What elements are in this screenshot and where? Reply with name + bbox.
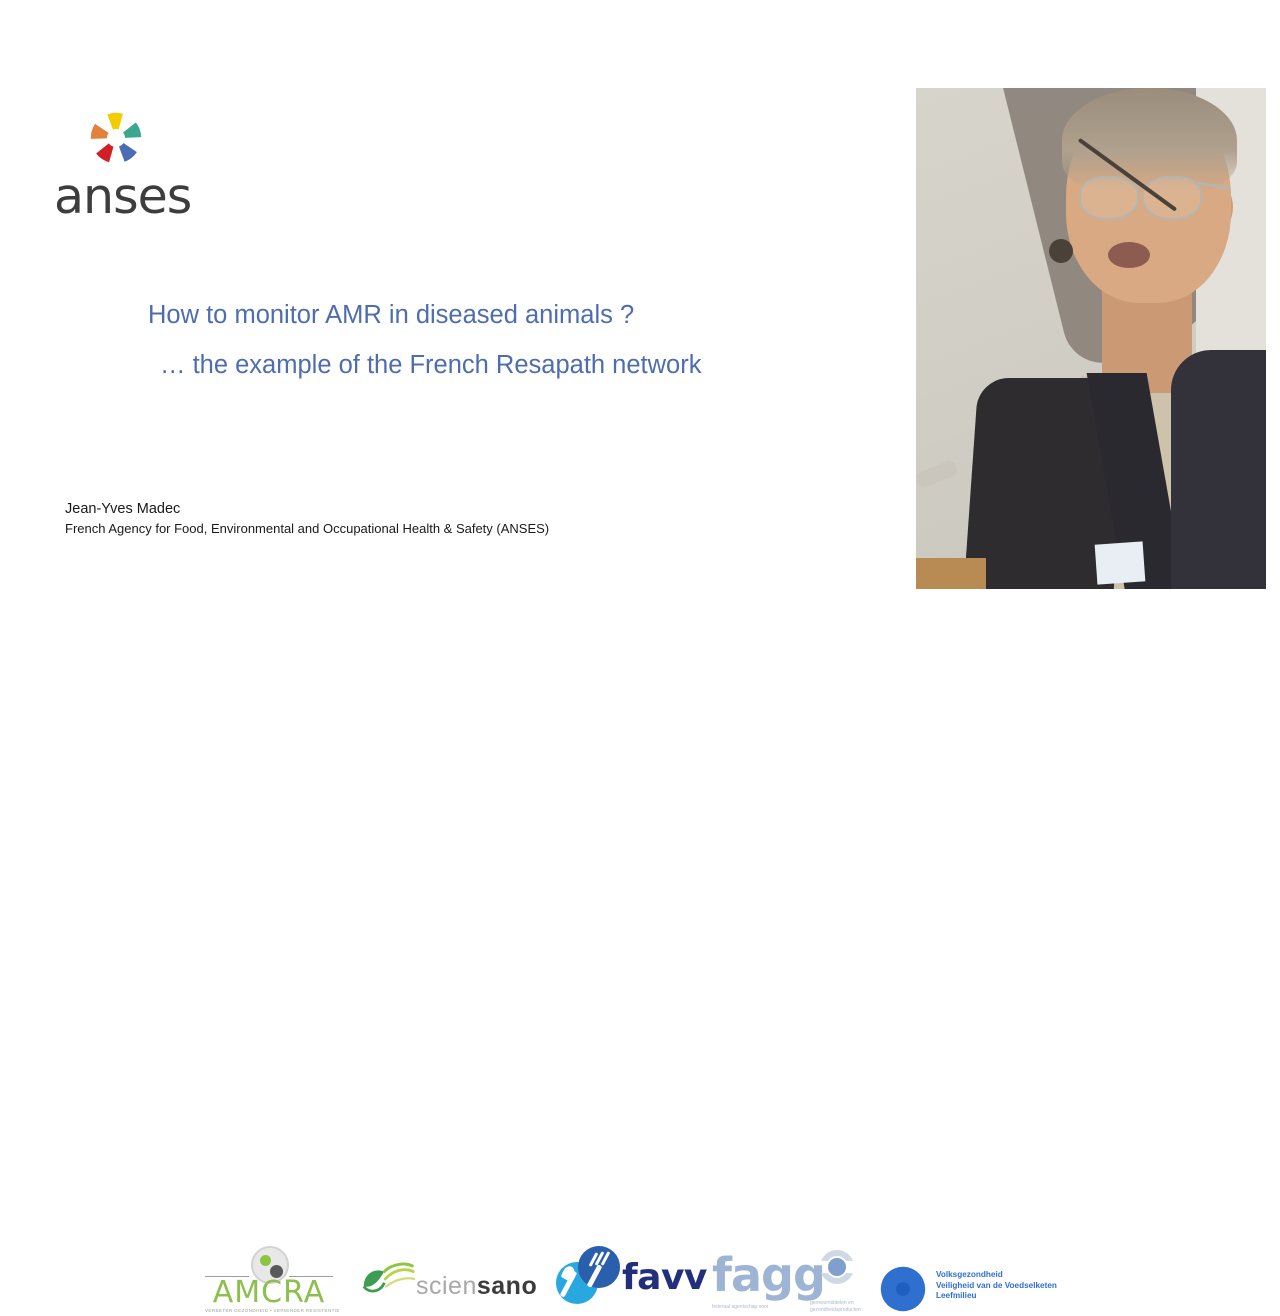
photo-glasses-left-lens — [1079, 176, 1139, 220]
author-name: Jean-Yves Madec — [65, 499, 549, 519]
speaker-photo — [916, 88, 1266, 589]
partner-logo-strip: AMCRA VERBETER GEZONDHEID • VERMINDER RE… — [0, 618, 1280, 714]
fps-health-circle-icon — [880, 1266, 926, 1312]
photo-name-badge — [1095, 541, 1146, 584]
fagg-subtitle-right-line-1: geneesmiddelen en — [810, 1300, 861, 1307]
fps-health-logo: Volksgezondheid Veiligheid van de Voedse… — [880, 1266, 1080, 1314]
amcra-tagline: VERBETER GEZONDHEID • VERMINDER RESISTEN… — [205, 1308, 333, 1313]
amcra-dark-dot-icon — [270, 1265, 283, 1278]
fps-health-line-2: Veiligheid van de Voedselketen — [936, 1281, 1057, 1292]
amcra-logo: AMCRA VERBETER GEZONDHEID • VERMINDER RE… — [205, 1246, 333, 1312]
photo-glasses-right-lens — [1142, 176, 1202, 220]
title-block: How to monitor AMR in diseased animals ?… — [148, 290, 848, 390]
slide-title-line-2: … the example of the French Resapath net… — [160, 340, 848, 390]
amcra-rule-left — [205, 1276, 249, 1277]
slide-title-line-1: How to monitor AMR in diseased animals ? — [148, 290, 848, 340]
presentation-slide: anses How to monitor AMR in diseased ani… — [0, 0, 1280, 720]
sciensano-wordmark: sciensano — [416, 1274, 537, 1299]
anses-logo: anses — [54, 108, 234, 220]
fagg-wordmark: fagg — [712, 1252, 825, 1298]
amcra-green-dot-icon — [260, 1255, 271, 1266]
amcra-wordmark: AMCRA — [205, 1278, 333, 1308]
fagg-globe-icon — [820, 1250, 854, 1284]
sciensano-word-bold: sano — [477, 1272, 537, 1300]
sciensano-word-light: scien — [416, 1272, 477, 1300]
sciensano-logo: sciensano — [360, 1258, 528, 1310]
fps-health-text: Volksgezondheid Veiligheid van de Voedse… — [936, 1270, 1057, 1302]
fps-health-line-1: Volksgezondheid — [936, 1270, 1057, 1281]
photo-podium — [916, 558, 986, 589]
fagg-globe-core-icon — [828, 1258, 846, 1276]
favv-logo: favv — [556, 1246, 688, 1308]
sciensano-leaf-icon — [360, 1258, 416, 1300]
fps-health-line-3: Leefmilieu — [936, 1291, 1057, 1302]
photo-jacket-right — [1171, 350, 1266, 589]
anses-wordmark: anses — [54, 172, 191, 221]
photo-mouth — [1108, 242, 1150, 268]
fagg-subtitle-right: geneesmiddelen en gezondheidsproducten — [810, 1300, 861, 1314]
author-block: Jean-Yves Madec French Agency for Food, … — [65, 499, 549, 538]
photo-hair — [1062, 88, 1237, 193]
author-affiliation: French Agency for Food, Environmental an… — [65, 519, 549, 538]
photo-headset-mic-capsule — [1049, 239, 1073, 263]
fagg-subtitle-right-line-2: gezondheidsproducten — [810, 1307, 861, 1314]
anses-flower-mark — [86, 108, 146, 168]
fagg-subtitle-left: federaal agentschap voor — [712, 1304, 768, 1311]
amcra-rule-right — [289, 1276, 333, 1277]
fagg-logo: fagg federaal agentschap voor geneesmidd… — [712, 1252, 872, 1316]
favv-wordmark: favv — [622, 1260, 707, 1296]
